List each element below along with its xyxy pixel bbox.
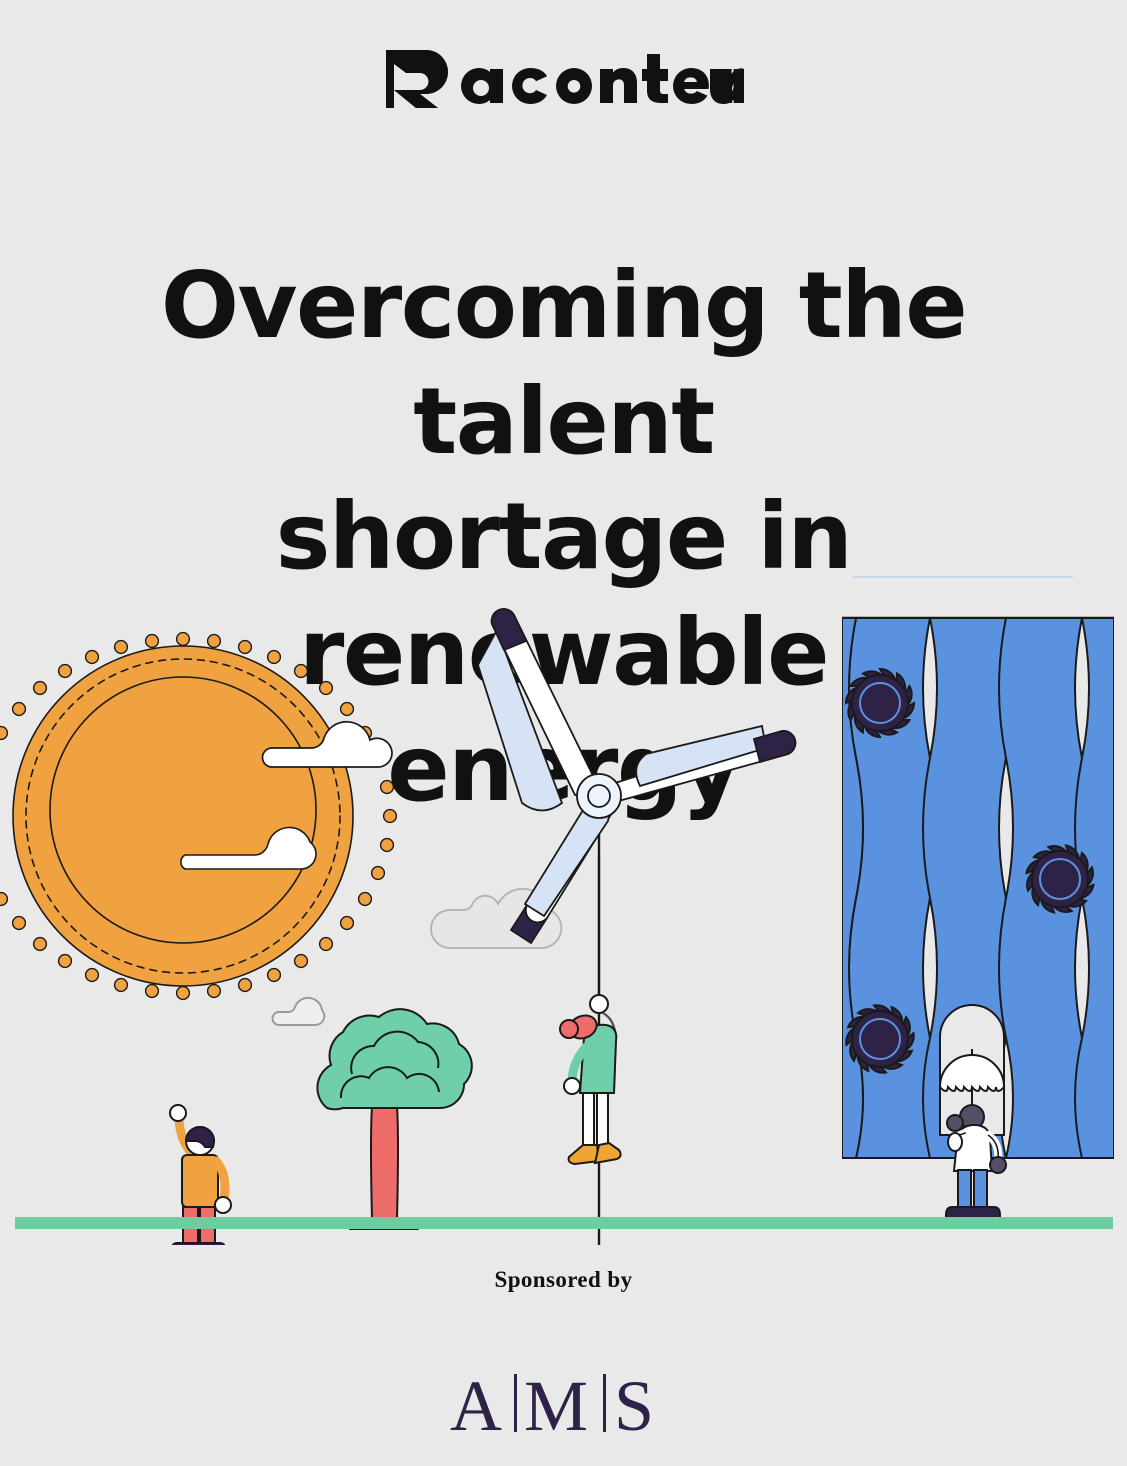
sponsor-logo-ams[interactable]: AMS A M S <box>0 1368 1127 1454</box>
renewable-energy-scene-svg <box>0 555 1127 1245</box>
climber-leg-right <box>597 1093 608 1149</box>
umbrella-person-sleeve <box>948 1133 962 1151</box>
ground-strip <box>15 1217 1113 1229</box>
climber-hand <box>564 1078 580 1094</box>
turbine-hub-inner <box>588 785 610 807</box>
poster-page: Raconteur <box>0 0 1127 1466</box>
sun-disc <box>13 646 353 986</box>
sponsored-by-label: Sponsored by <box>0 1267 1127 1293</box>
turbine-blade-upper-left <box>478 609 599 810</box>
sun <box>0 633 396 1000</box>
waver-hand-down <box>215 1197 231 1213</box>
waver-hand-raised <box>170 1105 186 1121</box>
ams-logo-icon: A M S <box>444 1368 684 1448</box>
umbrella-person-hand-left <box>947 1115 963 1131</box>
water-column <box>842 577 1114 1221</box>
climber-head <box>560 1020 578 1038</box>
tree <box>317 1009 471 1229</box>
turbine-blade-right <box>599 726 795 805</box>
wind-turbine <box>478 609 795 1245</box>
ams-separator-1 <box>514 1374 517 1432</box>
raconteur-logo[interactable]: Raconteur <box>0 46 1127 110</box>
waver-shoes <box>171 1243 226 1245</box>
raconteur-wordmark-icon <box>384 46 744 110</box>
climber-carabiner-icon <box>590 995 608 1013</box>
ams-letter-m: M <box>524 1368 588 1446</box>
ams-separator-2 <box>603 1374 606 1432</box>
tree-trunk <box>351 1090 417 1229</box>
climber-shoe-right <box>595 1143 621 1163</box>
umbrella-person-hand-right <box>990 1157 1006 1173</box>
climber-leg-left <box>583 1093 594 1149</box>
hero-illustration <box>0 555 1127 1245</box>
small-cloud <box>273 998 325 1025</box>
ams-letter-a: A <box>450 1368 502 1446</box>
climbing-technician <box>560 855 621 1164</box>
ams-letter-s: S <box>614 1368 654 1446</box>
